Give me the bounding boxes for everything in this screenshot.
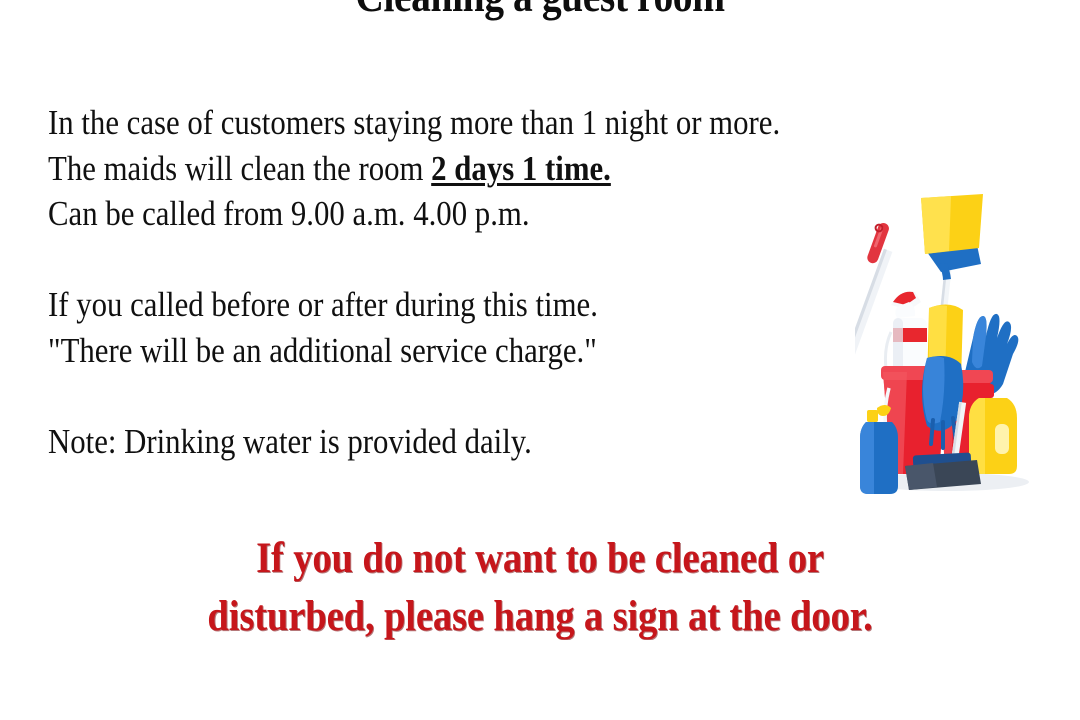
body-line-3: Can be called from 9.00 a.m. 4.00 p.m. [48, 191, 752, 237]
do-not-disturb-notice: If you do not want to be cleaned or dist… [0, 530, 1080, 646]
cleaning-supplies-illustration [855, 192, 1035, 497]
body-line-1: In the case of customers staying more th… [48, 100, 752, 146]
paragraph-gap-1 [48, 237, 848, 283]
cleaning-notice-sign: Cleaning a guest room In the case of cus… [0, 0, 1080, 720]
notice-line-1: If you do not want to be cleaned or [54, 530, 1026, 588]
page-title: Cleaning a guest room [76, 0, 1005, 24]
body-line-2-prefix: The maids will clean the room [48, 149, 431, 188]
body-line-note: Note: Drinking water is provided daily. [48, 419, 752, 465]
paragraph-gap-2 [48, 373, 848, 419]
body-line-2-emphasis: 2 days 1 time. [431, 149, 611, 188]
squeegee-dark-icon [905, 452, 981, 490]
body-line-5: "There will be an additional service cha… [48, 328, 752, 374]
body-line-2: The maids will clean the room 2 days 1 t… [48, 146, 752, 192]
notice-body: In the case of customers staying more th… [48, 100, 848, 464]
notice-line-2: disturbed, please hang a sign at the doo… [54, 588, 1026, 646]
body-line-4: If you called before or after during thi… [48, 282, 752, 328]
